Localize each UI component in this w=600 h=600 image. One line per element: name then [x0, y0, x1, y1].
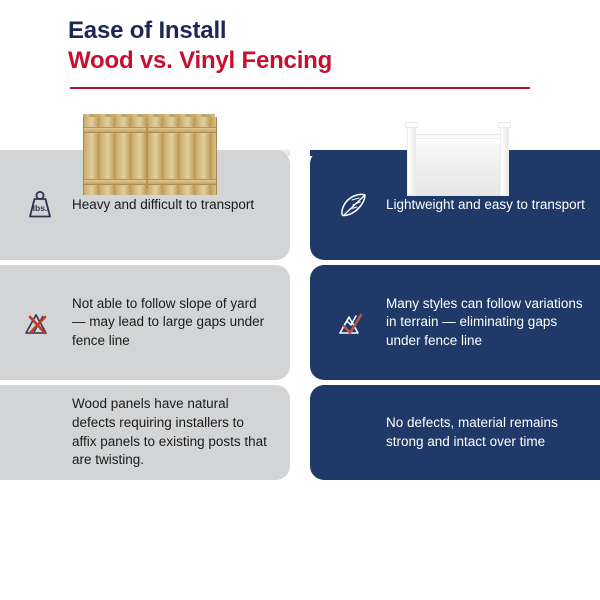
wood-fence-center-post-icon [146, 124, 148, 188]
vinyl-benefit-text-2: Many styles can follow variations in ter… [386, 295, 586, 351]
wood-fence-panel-image [83, 117, 217, 195]
page-title-primary: Ease of Install [68, 17, 226, 45]
vinyl-post-left [407, 126, 416, 196]
vinyl-panel-body [412, 134, 504, 196]
wood-benefit-text-1: Heavy and difficult to transport [72, 196, 272, 215]
vinyl-post-cap-right [498, 122, 511, 128]
slope-checkmark-icon [328, 300, 380, 346]
column-vinyl: Lightweight and easy to transport Many s… [310, 110, 600, 570]
svg-text:lbs.: lbs. [33, 203, 48, 213]
column-wood: lbs. Heavy and difficult to transport No… [0, 110, 290, 570]
wood-benefit-row-3: Wood panels have natural defects requiri… [0, 385, 290, 480]
weight-lbs-icon: lbs. [14, 182, 66, 228]
vinyl-row-3-icon-placeholder [328, 410, 380, 456]
vinyl-top-rail [412, 138, 504, 143]
vinyl-fence-panel-image [406, 120, 510, 196]
vinyl-benefit-row-3: No defects, material remains strong and … [310, 385, 600, 480]
wood-fence-hero [0, 110, 290, 152]
vinyl-fence-hero [310, 110, 600, 152]
slope-crossed-out-icon [14, 300, 66, 346]
wood-benefit-text-2: Not able to follow slope of yard — may l… [72, 295, 272, 351]
wood-row-3-icon-placeholder [14, 410, 66, 456]
vinyl-benefit-text-3: No defects, material remains strong and … [386, 414, 586, 451]
vinyl-post-cap-left [405, 122, 418, 128]
vinyl-benefit-row-2: Many styles can follow variations in ter… [310, 265, 600, 380]
wood-benefit-row-2: Not able to follow slope of yard — may l… [0, 265, 290, 380]
wood-benefit-text-3: Wood panels have natural defects requiri… [72, 395, 272, 470]
infographic-header: Ease of Install Wood vs. Vinyl Fencing [0, 0, 600, 110]
vinyl-benefit-text-1: Lightweight and easy to transport [386, 196, 586, 215]
title-divider-rule [70, 87, 530, 89]
page-title-secondary: Wood vs. Vinyl Fencing [68, 47, 332, 75]
feather-icon [328, 182, 380, 228]
vinyl-post-right [500, 126, 509, 196]
